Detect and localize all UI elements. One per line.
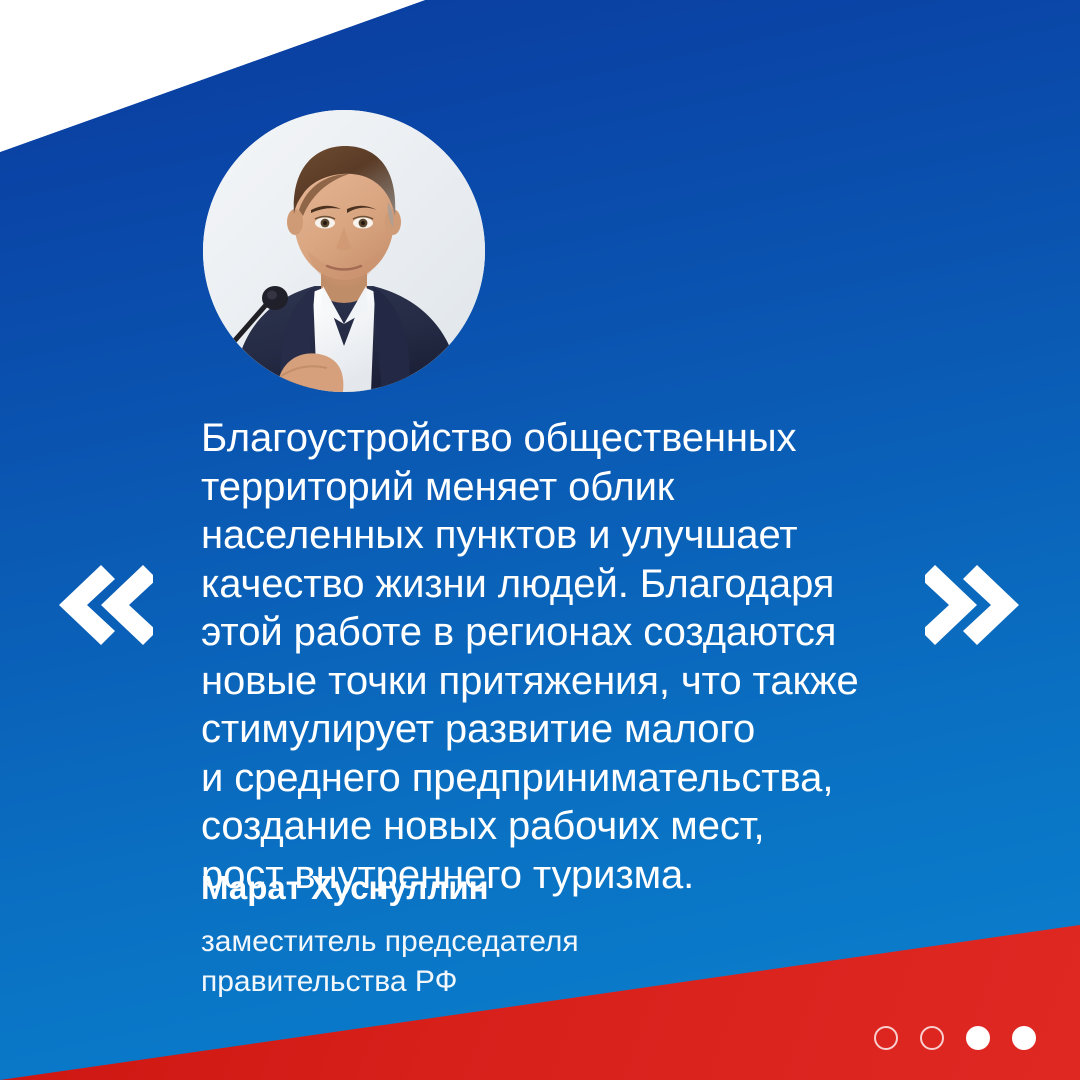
- pagination-dot-1[interactable]: [874, 1026, 898, 1050]
- double-chevron-right-icon: [925, 561, 1021, 649]
- pagination-dot-2[interactable]: [920, 1026, 944, 1050]
- pagination-dots[interactable]: [874, 1026, 1036, 1050]
- quote-card: Благоустройство общественных территорий …: [0, 0, 1080, 1080]
- quote-text: Благоустройство общественных территорий …: [201, 414, 901, 899]
- pagination-dot-3[interactable]: [966, 1026, 990, 1050]
- attribution: Марат Хуснуллин заместитель председателя…: [201, 868, 841, 1002]
- speaker-name: Марат Хуснуллин: [201, 868, 841, 908]
- pagination-dot-4[interactable]: [1012, 1026, 1036, 1050]
- prev-button[interactable]: [57, 561, 153, 649]
- next-button[interactable]: [925, 561, 1021, 649]
- speaker-role: заместитель председателя правительства Р…: [201, 922, 841, 1002]
- avatar: [203, 110, 485, 392]
- portrait-photo: [203, 110, 485, 392]
- double-chevron-left-icon: [57, 561, 153, 649]
